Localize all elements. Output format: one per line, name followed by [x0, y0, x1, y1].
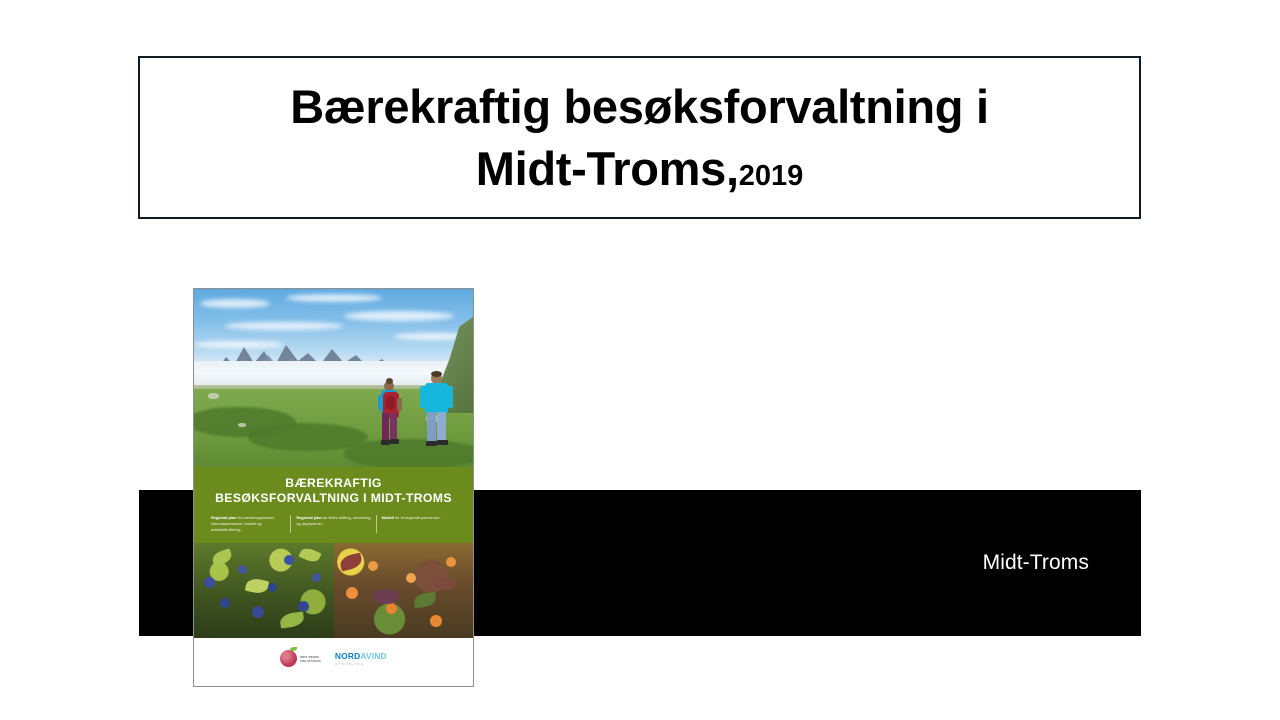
hiker-with-backpack — [372, 381, 406, 459]
cover-title-line-1: BÆREKRAFTIG — [206, 476, 461, 491]
cover-subtext-columns: Regional plan for parkeringsplasser, inf… — [206, 515, 461, 533]
nordavind-subtitle: UTVIKLING — [335, 662, 387, 666]
nordavind-word-1: NORD — [335, 651, 360, 661]
page-title: Bærekraftig besøksforvaltning i Midt-Tro… — [276, 76, 1002, 198]
title-line-2: Midt-Troms, — [476, 142, 739, 195]
cloud-shape — [224, 322, 344, 330]
cover-subtext-column: Regional plan for felles skilting, stime… — [290, 515, 375, 533]
cover-subtext-column: Regional plan for parkeringsplasser, inf… — [206, 515, 290, 533]
rock — [208, 393, 219, 399]
cover-berry-photos — [194, 543, 473, 638]
cover-subtext-body: for et regionalt parkverum. — [394, 515, 441, 520]
cover-title: BÆREKRAFTIG BESØKSFORVALTNING I MIDT-TRO… — [206, 476, 461, 506]
berry-logo-line-2: FRILUFTSRÅD — [300, 659, 321, 663]
cover-logo-footer: MIDT-TROMS FRILUFTSRÅD NORDAVIND UTVIKLI… — [194, 638, 473, 686]
cloudberry-photo — [334, 543, 474, 638]
nordavind-logo: NORDAVIND UTVIKLING — [335, 651, 387, 666]
cover-title-line-2: BESØKSFORVALTNING I MIDT-TROMS — [206, 491, 461, 506]
band-label-midt-troms: Midt-Troms — [983, 551, 1089, 575]
cover-subtext-column: Modell for et regionalt parkverum. — [376, 515, 461, 533]
nordavind-word-2: AVIND — [360, 651, 386, 661]
berry-icon — [280, 650, 297, 667]
blueberry-photo — [194, 543, 334, 638]
hikers-mountain-landscape-photo — [194, 289, 473, 467]
title-year: 2019 — [739, 160, 804, 192]
cover-subtext-lead: Regional plan — [296, 515, 322, 520]
title-box: Bærekraftig besøksforvaltning i Midt-Tro… — [138, 56, 1141, 219]
title-line-1: Bærekraftig besøksforvaltning i — [290, 80, 988, 133]
rock — [238, 423, 246, 427]
cloud-shape — [286, 294, 382, 302]
cover-subtext-lead: Modell — [382, 515, 394, 520]
book-cover: BÆREKRAFTIG BESØKSFORVALTNING I MIDT-TRO… — [193, 288, 474, 687]
midt-troms-berry-logo: MIDT-TROMS FRILUFTSRÅD — [280, 650, 321, 667]
cloud-shape — [200, 299, 270, 308]
hiker-in-blue — [419, 373, 455, 459]
cloud-shape — [344, 311, 454, 321]
cover-subtext-lead: Regional plan — [211, 515, 237, 520]
cover-green-band: BÆREKRAFTIG BESØKSFORVALTNING I MIDT-TRO… — [194, 467, 473, 543]
